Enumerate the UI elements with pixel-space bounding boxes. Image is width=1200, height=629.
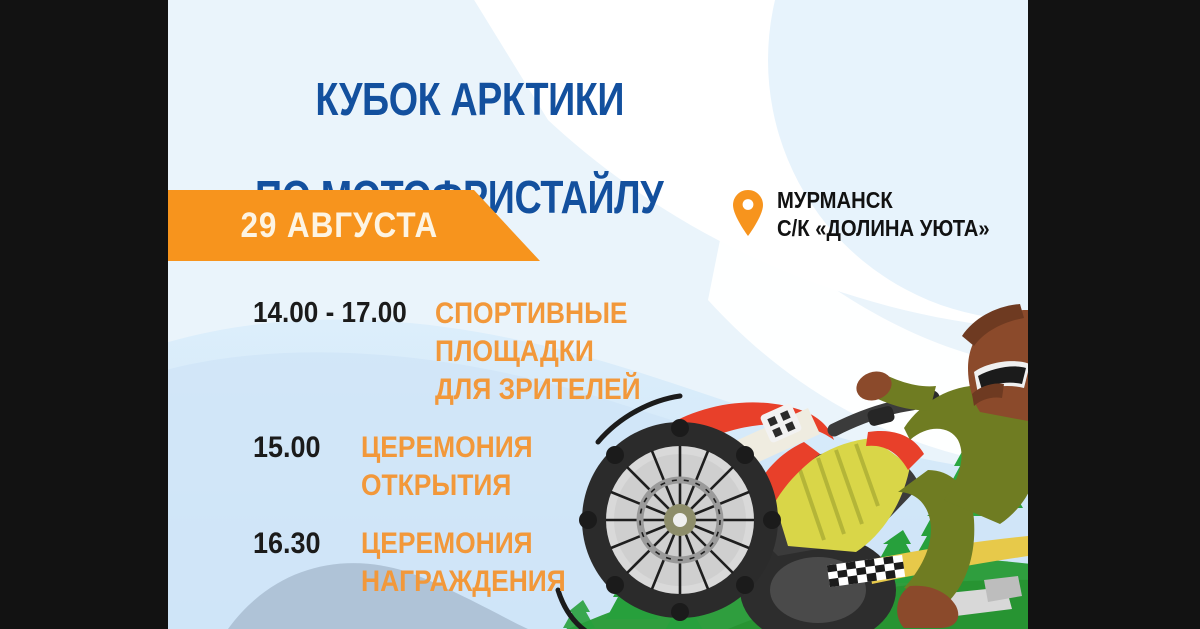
title-line-1: КУБОК АРКТИКИ bbox=[315, 73, 624, 125]
page-title: КУБОК АРКТИКИ ПО МОТОФРИСТАЙЛУ bbox=[255, 26, 663, 320]
schedule-time: 14.00 - 17.00 bbox=[253, 295, 417, 332]
schedule-time: 16.30 bbox=[253, 525, 343, 562]
location-venue: С/К «ДОЛИНА УЮТА» bbox=[777, 214, 990, 242]
date-badge: 29 АВГУСТА bbox=[168, 190, 548, 261]
schedule-list: 14.00 - 17.00 СПОРТИВНЫЕ ПЛОЩАДКИ ДЛЯ ЗР… bbox=[253, 295, 773, 621]
letterbox-right bbox=[1028, 0, 1200, 629]
schedule-row: 14.00 - 17.00 СПОРТИВНЫЕ ПЛОЩАДКИ ДЛЯ ЗР… bbox=[253, 295, 773, 409]
schedule-row: 15.00 ЦЕРЕМОНИЯ ОТКРЫТИЯ bbox=[253, 429, 773, 505]
location-city: МУРМАНСК bbox=[777, 186, 990, 214]
schedule-name: ЦЕРЕМОНИЯ НАГРАЖДЕНИЯ bbox=[361, 525, 566, 601]
event-poster: КУБОК АРКТИКИ ПО МОТОФРИСТАЙЛУ 29 АВГУСТ… bbox=[168, 0, 1028, 629]
schedule-name: СПОРТИВНЫЕ ПЛОЩАДКИ ДЛЯ ЗРИТЕЛЕЙ bbox=[435, 295, 732, 409]
location-text: МУРМАНСК С/К «ДОЛИНА УЮТА» bbox=[777, 186, 990, 242]
screenshot-root: КУБОК АРКТИКИ ПО МОТОФРИСТАЙЛУ 29 АВГУСТ… bbox=[0, 0, 1200, 629]
location-block: МУРМАНСК С/К «ДОЛИНА УЮТА» bbox=[733, 186, 1019, 242]
letterbox-left bbox=[0, 0, 168, 629]
schedule-name: ЦЕРЕМОНИЯ ОТКРЫТИЯ bbox=[361, 429, 533, 505]
schedule-row: 16.30 ЦЕРЕМОНИЯ НАГРАЖДЕНИЯ bbox=[253, 525, 773, 601]
date-badge-label: 29 АВГУСТА bbox=[184, 190, 465, 261]
map-pin-icon bbox=[733, 190, 763, 236]
schedule-time: 15.00 bbox=[253, 429, 343, 466]
